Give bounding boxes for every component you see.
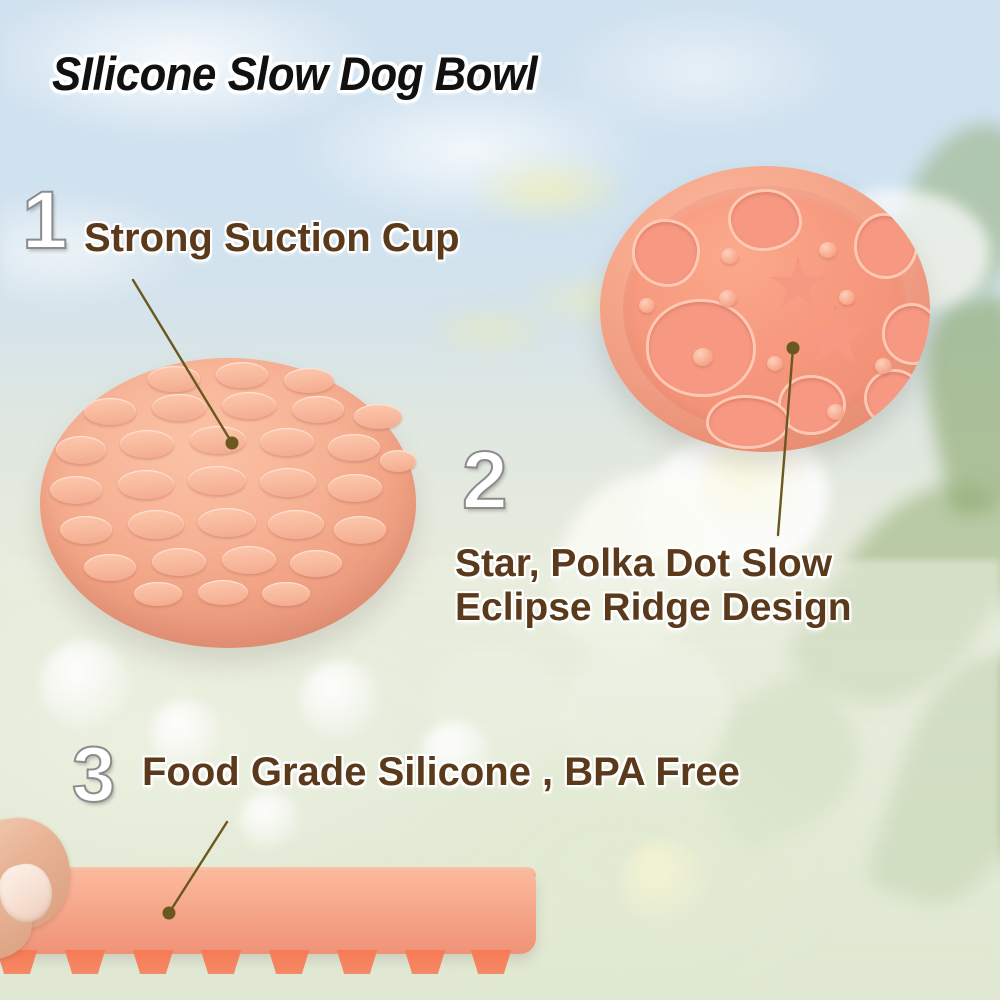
- side-suction-cup: [334, 950, 380, 974]
- polka-dot-dome: [767, 356, 783, 371]
- flower-pocket: [885, 306, 930, 362]
- flower-pocket: [635, 222, 697, 284]
- polka-dot-dome: [719, 290, 737, 306]
- bowl-underside-image: [40, 358, 416, 648]
- polka-dot-dome: [721, 248, 739, 264]
- background-bokeh: [240, 790, 300, 850]
- side-suction-cup: [62, 950, 108, 974]
- side-suction-cup: [130, 950, 176, 974]
- star-pocket: [769, 258, 827, 312]
- side-suction-cup: [198, 950, 244, 974]
- page-title: SIlicone Slow Dog Bowl: [52, 46, 537, 101]
- polka-dot-dome: [827, 404, 844, 420]
- bowl-top-face-image: [600, 166, 930, 452]
- polka-dot-dome: [693, 348, 713, 366]
- flower-pocket: [867, 372, 921, 424]
- feature-number-3: 3: [72, 735, 115, 813]
- polka-dot-dome: [819, 242, 837, 258]
- feature-label-1: Strong Suction Cup: [84, 216, 460, 261]
- polka-dot-dome: [875, 358, 892, 374]
- side-suction-cup: [266, 950, 312, 974]
- flower-pocket: [731, 192, 799, 248]
- side-suction-cup: [468, 950, 514, 974]
- side-suction-cup: [402, 950, 448, 974]
- hand-holding-bowl: [0, 812, 96, 952]
- background-bokeh: [300, 660, 380, 740]
- polka-dot-dome: [839, 290, 855, 305]
- feature-label-3: Food Grade Silicone , BPA Free: [142, 750, 740, 795]
- infographic-stage: SIlicone Slow Dog Bowl 1 Strong Suction …: [0, 0, 1000, 1000]
- background-bokeh: [40, 640, 130, 730]
- polka-dot-dome: [639, 298, 655, 313]
- star-pocket: [801, 306, 869, 368]
- bowl-inner-surface: [623, 186, 907, 432]
- background-bokeh: [620, 840, 710, 930]
- flower-pocket: [857, 216, 915, 276]
- feature-label-2: Star, Polka Dot Slow Eclipse Ridge Desig…: [455, 542, 852, 629]
- feature-number-1: 1: [22, 180, 68, 262]
- flower-pocket: [709, 398, 787, 446]
- bowl-side-suction-cups: [0, 950, 536, 976]
- feature-number-2: 2: [462, 440, 508, 522]
